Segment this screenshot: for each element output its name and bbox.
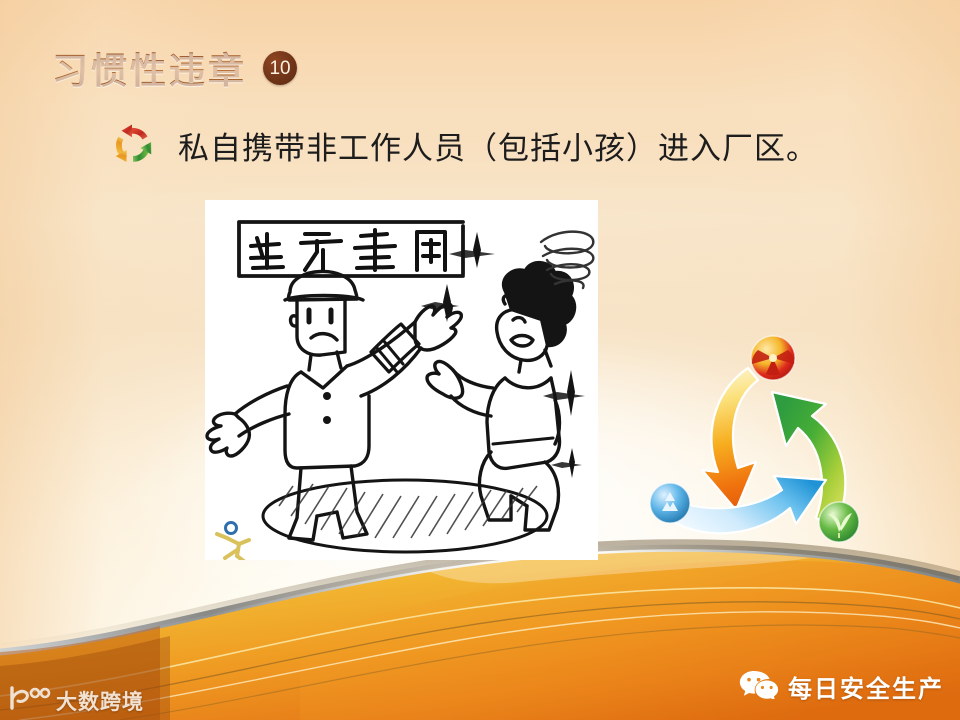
three-arrow-cycle-graphic <box>640 330 865 555</box>
recycle-cycle-icon <box>110 122 156 168</box>
green-plant-badge <box>819 502 859 542</box>
dashu-logo-icon <box>8 685 52 716</box>
watermark-left-text: 大数跨境 <box>56 686 144 716</box>
cartoon-workshop-scene <box>205 200 598 560</box>
slide-header: 习惯性违章 10 <box>52 42 297 94</box>
status-badge: 10 <box>263 51 297 85</box>
slide-root: 习惯性违章 10 <box>0 0 960 720</box>
subtitle-text: 私自携带非工作人员（包括小孩）进入厂区。 <box>178 123 818 168</box>
subtitle-row: 私自携带非工作人员（包括小孩）进入厂区。 <box>110 122 818 168</box>
watermark-left: 大数跨境 <box>8 685 144 716</box>
blue-arrow <box>670 476 826 533</box>
wechat-icon <box>739 669 779 704</box>
watermark-right: 每日安全生产 <box>739 669 944 704</box>
blue-recycle-badge <box>650 483 690 523</box>
red-radiation-badge <box>751 336 795 380</box>
orange-arrow <box>702 368 758 510</box>
watermark-right-text: 每日安全生产 <box>788 669 944 704</box>
page-title: 习惯性违章 <box>52 42 247 94</box>
